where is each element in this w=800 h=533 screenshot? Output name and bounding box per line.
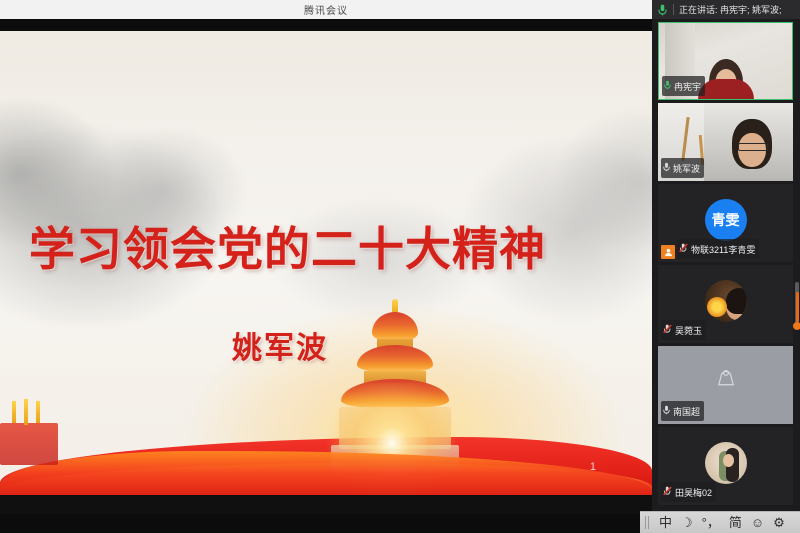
slide-page-number: 1 [590,461,596,473]
camera-covered-icon [715,368,737,393]
window-title: 腾讯会议 [304,2,348,17]
participant-tile[interactable]: 南国超 [658,346,793,424]
participant-name: 物联3211李青雯 [691,243,755,256]
tiananmen-gate-silhouette [0,423,58,465]
participant-name: 冉宪宇 [674,80,701,93]
rail-scroll-knob[interactable] [793,322,800,330]
participant-name-badge: 田昊梅02 [661,482,716,502]
participant-tile[interactable]: 吴菀玉 [658,265,793,343]
participant-name-badge: 姚军波 [661,158,704,178]
participant-tile[interactable]: 姚军波 [658,103,793,181]
microphone-icon [663,159,670,177]
participant-name-badge: 冉宪宇 [662,76,705,96]
slide-title: 学习领会党的二十大精神 [0,213,575,279]
participant-name-badge: 物联3211李青雯 [677,239,759,259]
avatar: 青雯 [705,199,747,241]
participant-name: 吴菀玉 [675,324,702,337]
window-titlebar: 腾讯会议 [0,0,652,19]
ime-settings-gear-icon[interactable]: ⚙ [773,516,785,529]
participant-name-badge: 吴菀玉 [661,320,706,340]
stage-bottom-strip [0,495,652,514]
ime-toolbar[interactable]: 中 ☽ °， 简 ☺ ⚙ [640,511,800,533]
participant-tiles-list[interactable]: 冉宪宇 [652,19,800,514]
participant-rail: 正在讲话: 冉宪宇; 姚军波; [652,0,800,533]
microphone-icon [664,77,671,95]
flag-pole-icon [36,401,40,423]
ime-punctuation-mode[interactable]: °， [702,516,720,529]
avatar-initials: 青雯 [712,210,740,230]
rail-scrollbar-thumb[interactable] [796,292,799,322]
participant-tile[interactable]: 田昊梅02 [658,427,793,505]
avatar [705,280,747,322]
flag-pole-icon [24,399,28,425]
speaking-status-bar: 正在讲话: 冉宪宇; 姚军波; [652,0,800,19]
participant-tile[interactable]: 冉宪宇 [658,22,793,100]
ime-drag-handle[interactable] [645,516,650,529]
participant-name: 姚军波 [673,162,700,175]
flag-pole-icon [12,401,16,423]
slide-presenter-name: 姚军波 [0,323,560,367]
microphone-muted-icon [663,321,672,339]
ime-moon-icon[interactable]: ☽ [681,516,693,529]
ime-emoji-icon[interactable]: ☺ [751,516,764,529]
header-divider [673,4,674,15]
speaking-status-text: 正在讲话: 冉宪宇; 姚军波; [679,3,782,16]
microphone-icon [663,402,670,420]
microphone-icon [656,4,668,16]
presentation-slide: 学习领会党的二十大精神 姚军波 1 [0,31,652,501]
ime-simplified-mode[interactable]: 简 [729,516,742,529]
tencent-meeting-window: 腾讯会议 学习领会党的二 [0,0,800,533]
host-person-icon [661,245,675,259]
microphone-muted-icon [679,240,688,258]
microphone-muted-icon [663,483,672,501]
ime-language-mode[interactable]: 中 [659,516,672,529]
participant-name-badge: 南国超 [661,401,704,421]
participant-name: 南国超 [673,405,700,418]
avatar [705,442,747,484]
participant-name: 田昊梅02 [675,486,712,499]
participant-tile[interactable]: 青雯 物联3211李青雯 [658,184,793,262]
shared-screen-stage: 学习领会党的二十大精神 姚军波 1 [0,19,652,514]
